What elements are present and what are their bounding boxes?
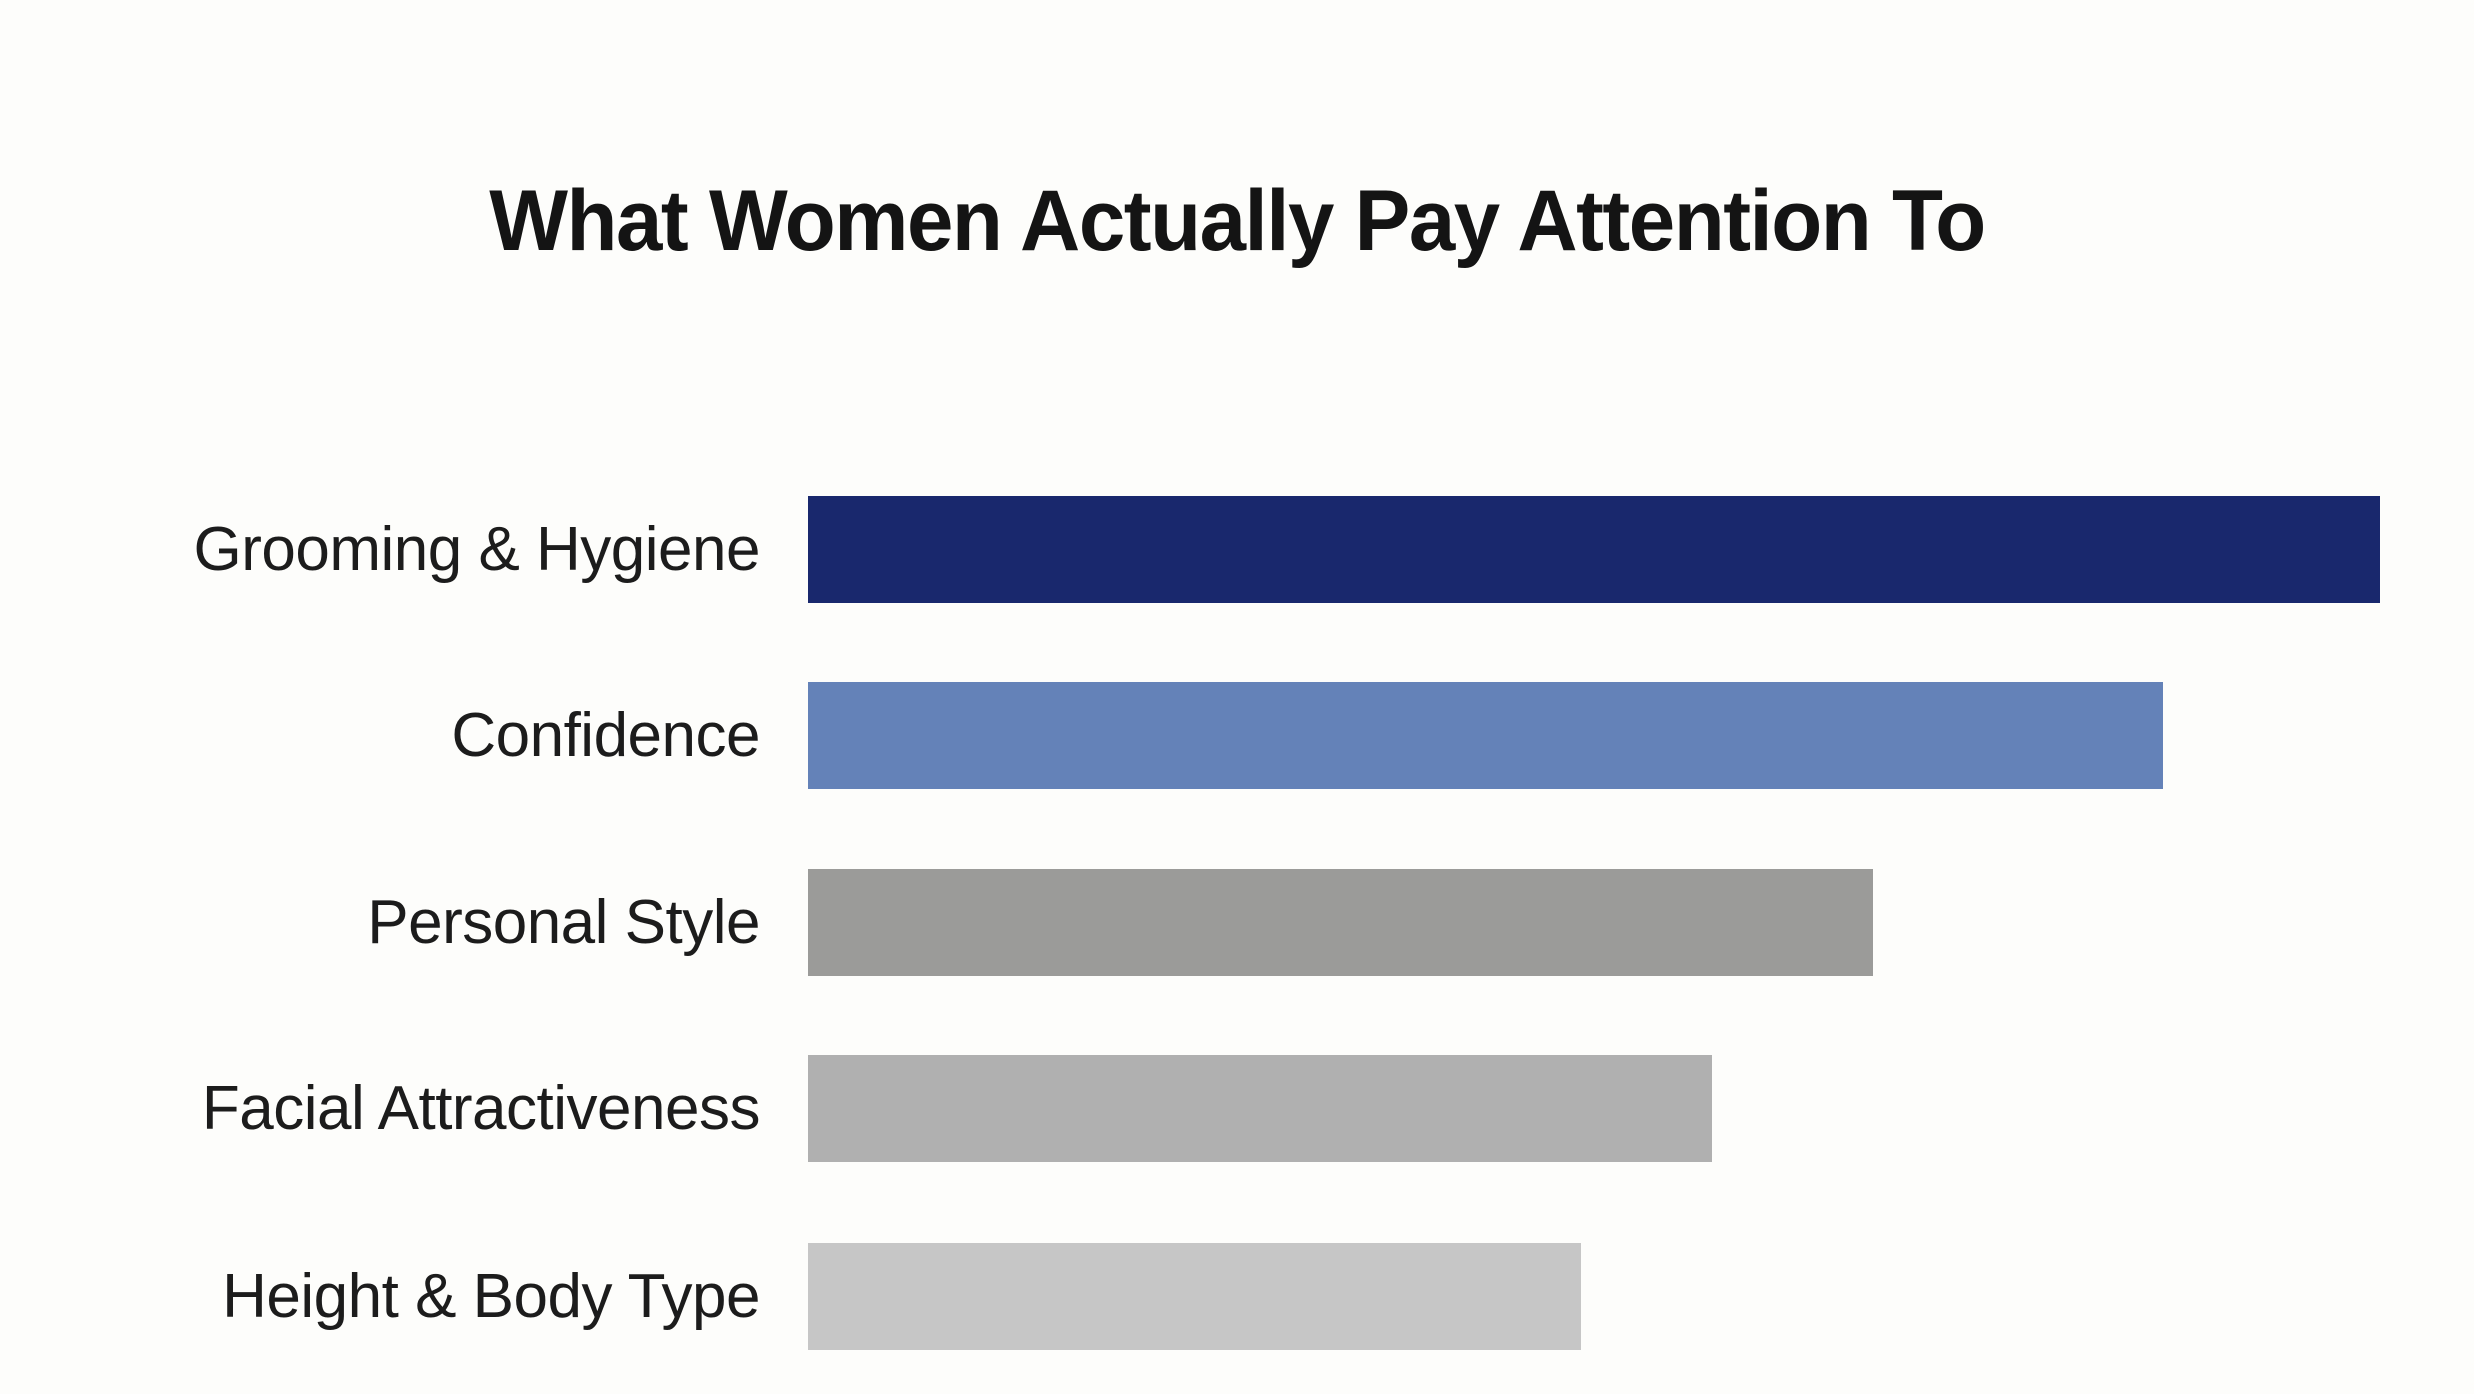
bar-chart-plot-area: Grooming & Hygiene Confidence Personal S… bbox=[0, 0, 2474, 1394]
bar-category-label: Confidence bbox=[0, 682, 760, 789]
chart-canvas: What Women Actually Pay Attention To Gro… bbox=[0, 0, 2474, 1394]
bar-category-label: Personal Style bbox=[0, 869, 760, 976]
bar-fill bbox=[808, 682, 2163, 789]
bar-track bbox=[808, 1243, 2380, 1350]
bar-row: Height & Body Type bbox=[0, 1243, 2474, 1350]
bar-category-label: Facial Attractiveness bbox=[0, 1055, 760, 1162]
bar-row: Facial Attractiveness bbox=[0, 1055, 2474, 1162]
bar-row: Personal Style bbox=[0, 869, 2474, 976]
bar-category-label: Grooming & Hygiene bbox=[0, 496, 760, 603]
bar-fill bbox=[808, 1243, 1581, 1350]
bar-row: Confidence bbox=[0, 682, 2474, 789]
bar-fill bbox=[808, 496, 2380, 603]
bar-fill bbox=[808, 869, 1873, 976]
bar-track bbox=[808, 496, 2380, 603]
bar-track bbox=[808, 869, 2380, 976]
bar-row: Grooming & Hygiene bbox=[0, 496, 2474, 603]
bar-fill bbox=[808, 1055, 1712, 1162]
bar-track bbox=[808, 1055, 2380, 1162]
bar-track bbox=[808, 682, 2380, 789]
bar-category-label: Height & Body Type bbox=[0, 1243, 760, 1350]
